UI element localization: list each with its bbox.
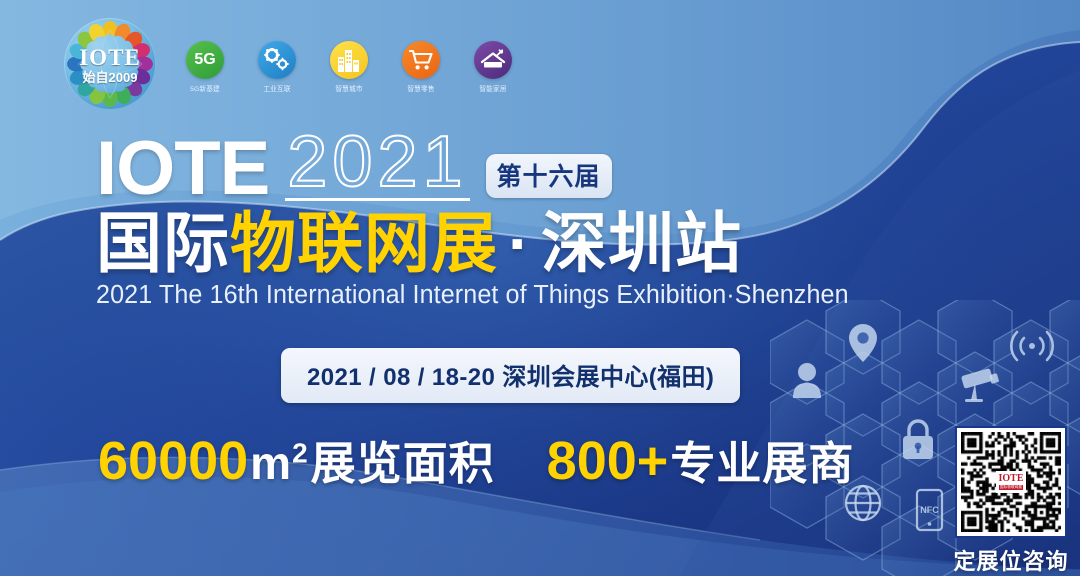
logo-tagline: 始自2009 bbox=[64, 69, 156, 87]
smart-home-icon bbox=[474, 41, 512, 79]
city-buildings-icon bbox=[330, 41, 368, 79]
theme-label-smart-city: 智慧城市 bbox=[323, 84, 374, 94]
title-part-1: 国际 bbox=[96, 206, 230, 280]
headline-line-2-cn: 国际物联网展·深圳站 bbox=[96, 208, 996, 279]
edition-badge: 第十六届 bbox=[486, 154, 612, 198]
headline-line-1: IOTE 2021 第十六届 bbox=[96, 126, 996, 204]
5g-glyph: 5G bbox=[194, 51, 215, 69]
iote-globe-logo: IOTE 始自2009 bbox=[64, 18, 156, 110]
top-logo-and-themes-row: IOTE 始自2009 5G 5G新基建 bbox=[64, 18, 520, 110]
qr-label: 定展位咨询 bbox=[952, 544, 1070, 576]
brand-iote: IOTE bbox=[96, 134, 269, 204]
qr-booth-enquiry-block[interactable]: IOTE 国际物联网展 定展位咨询 bbox=[952, 426, 1070, 576]
stat-exhibition-area: 60000 m2 展览面积 bbox=[98, 427, 495, 492]
title-part-2: 物联网展 bbox=[230, 206, 498, 280]
date-venue-pill: 2021 / 08 / 18-20 深圳会展中心(福田) bbox=[281, 348, 740, 403]
stat-area-label: 展览面积 bbox=[311, 427, 495, 492]
shopping-cart-icon bbox=[402, 41, 440, 79]
stat-area-sqm: m2 bbox=[250, 436, 308, 490]
theme-label-retail: 智慧零售 bbox=[395, 84, 446, 94]
qr-center-sub: 国际物联网展 bbox=[999, 485, 1023, 489]
theme-item-smart-home[interactable]: 智能家居 bbox=[466, 41, 520, 94]
iote-exhibition-banner: NFC bbox=[0, 0, 1080, 576]
qr-center-name: IOTE bbox=[998, 474, 1023, 484]
headline-block: IOTE 2021 第十六届 国际物联网展·深圳站 2021 The 16th … bbox=[96, 126, 996, 310]
stats-row: 60000 m2 展览面积 800+ 专业展商 bbox=[98, 427, 854, 492]
qr-center-logo: IOTE 国际物联网展 bbox=[996, 471, 1026, 493]
theme-item-5g[interactable]: 5G 5G新基建 bbox=[178, 41, 232, 94]
headline-subtitle-en: 2021 The 16th International Internet of … bbox=[96, 281, 983, 310]
theme-label-industrial: 工业互联 bbox=[251, 84, 302, 94]
theme-label-smart-home: 智能家居 bbox=[467, 84, 518, 94]
stat-exhibitors-number: 800+ bbox=[547, 430, 669, 492]
stat-exhibitors: 800+ 专业展商 bbox=[547, 427, 855, 492]
date-venue-text: 2021 / 08 / 18-20 深圳会展中心(福田) bbox=[307, 357, 714, 392]
gears-icon bbox=[258, 41, 296, 79]
theme-icon-list: 5G 5G新基建 bbox=[178, 41, 520, 94]
year-2021: 2021 bbox=[285, 128, 469, 201]
stat-exhibitors-label: 专业展商 bbox=[670, 427, 854, 492]
title-part-3: 深圳站 bbox=[541, 206, 742, 280]
stat-area-number: 60000 bbox=[98, 430, 248, 492]
title-separator: · bbox=[498, 206, 541, 280]
theme-item-industrial[interactable]: 工业互联 bbox=[250, 41, 304, 94]
qr-code[interactable]: IOTE 国际物联网展 bbox=[955, 426, 1067, 538]
theme-item-smart-city[interactable]: 智慧城市 bbox=[322, 41, 376, 94]
logo-name: IOTE bbox=[64, 46, 156, 69]
5g-icon: 5G bbox=[186, 41, 224, 79]
theme-item-retail[interactable]: 智慧零售 bbox=[394, 41, 448, 94]
logo-text: IOTE 始自2009 bbox=[64, 46, 156, 87]
theme-label-5g: 5G新基建 bbox=[179, 84, 230, 94]
